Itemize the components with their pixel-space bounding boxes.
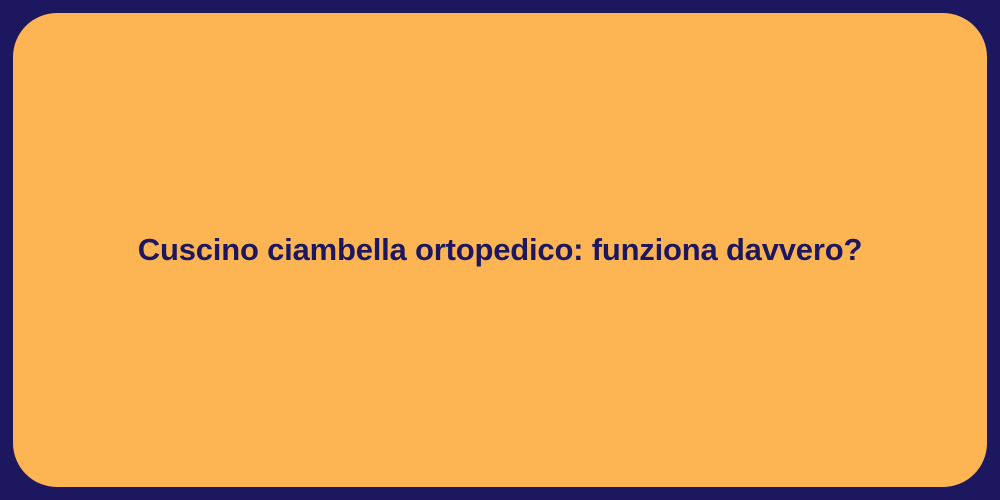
- title-card: Cuscino ciambella ortopedico: funziona d…: [13, 13, 987, 487]
- page-background: Cuscino ciambella ortopedico: funziona d…: [0, 0, 1000, 500]
- card-title: Cuscino ciambella ortopedico: funziona d…: [98, 231, 902, 270]
